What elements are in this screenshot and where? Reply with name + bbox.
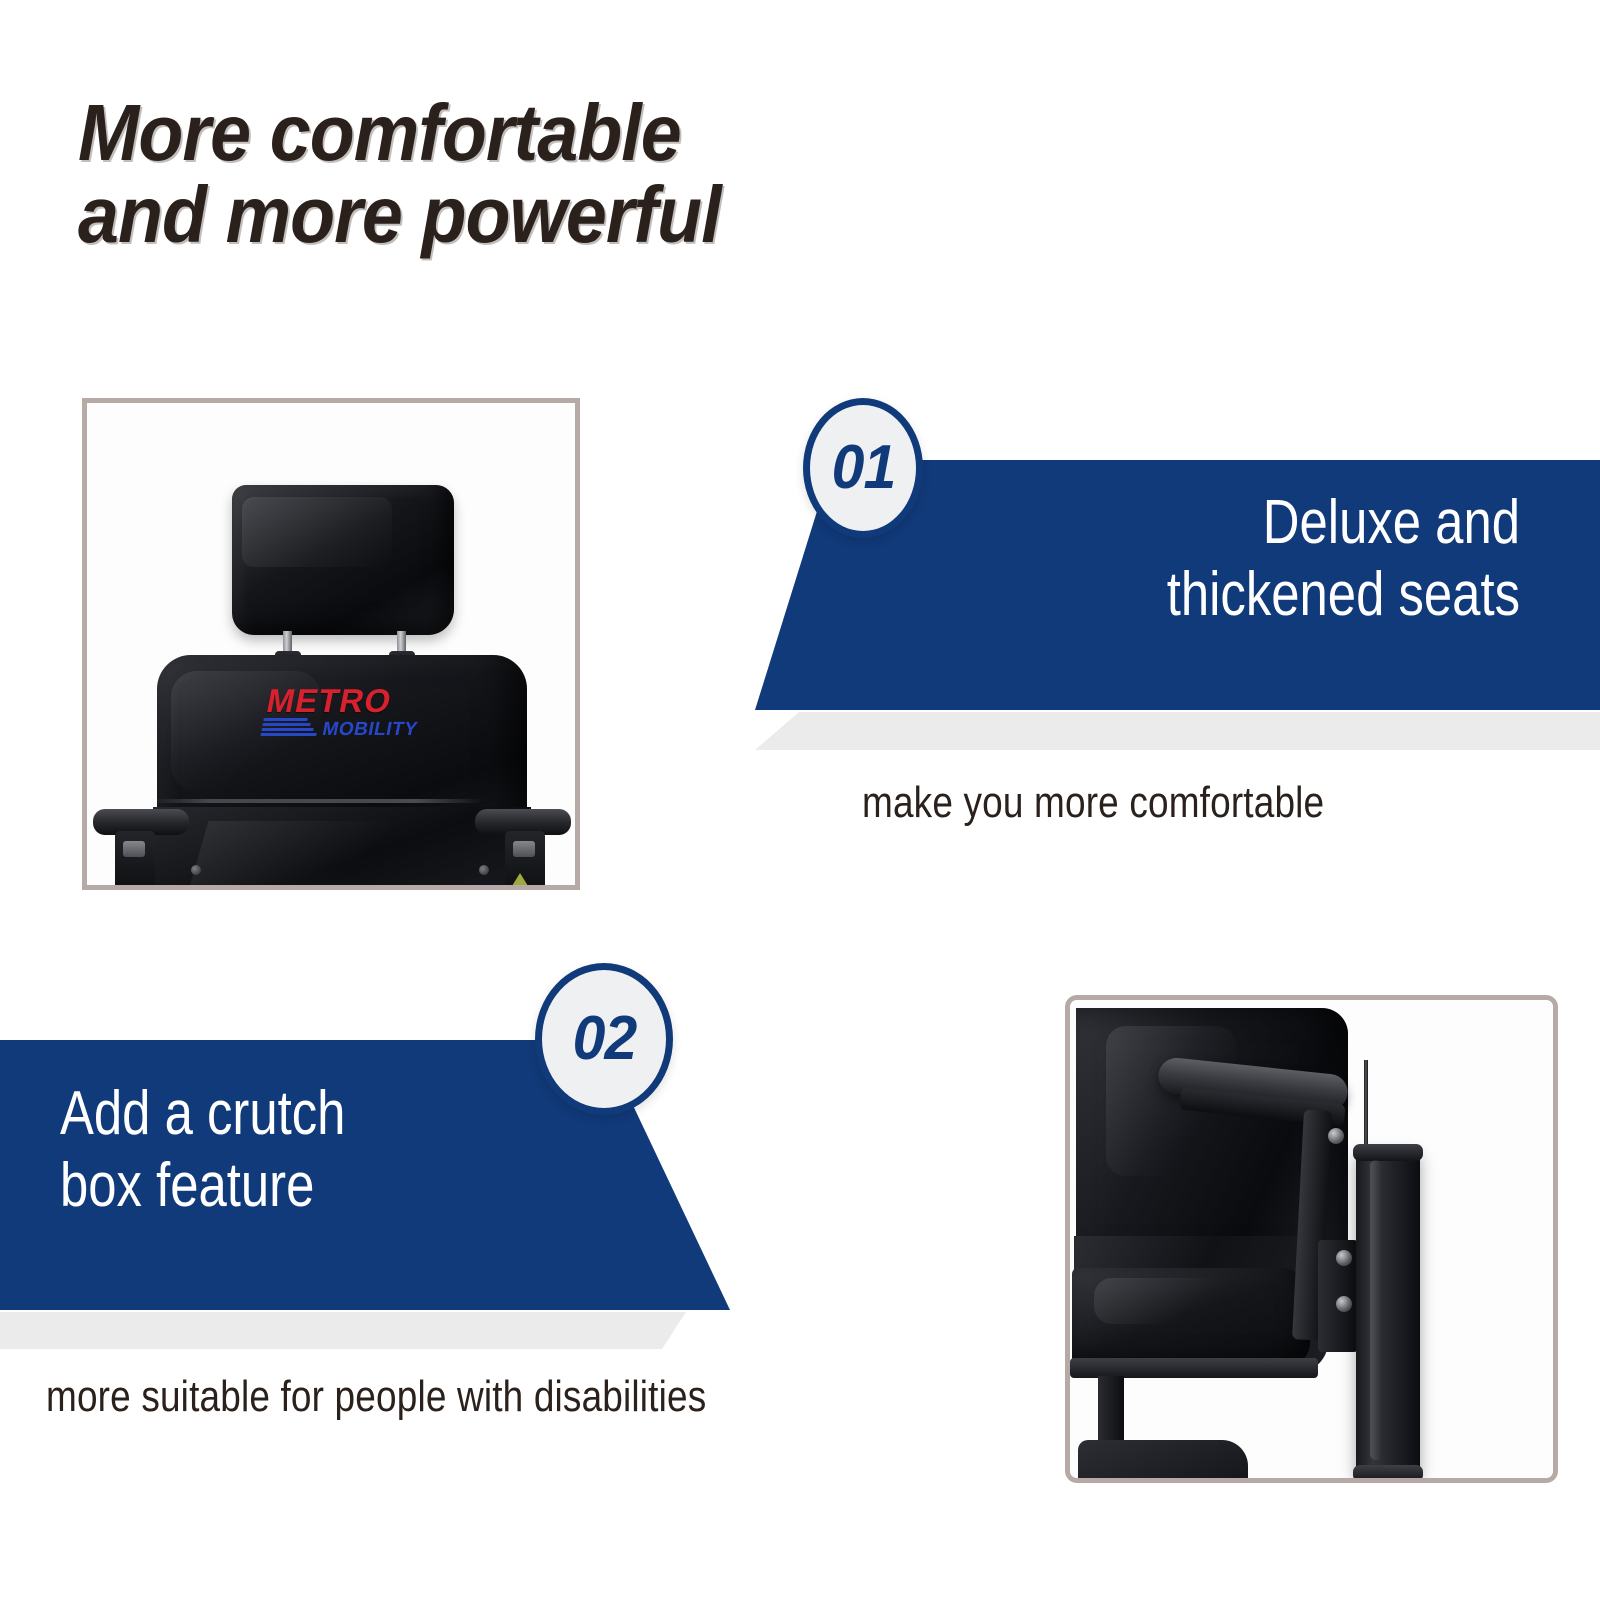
frame-screw-right	[479, 865, 489, 875]
infographic-stage: More comfortable and more powerful METRO…	[0, 0, 1600, 1600]
crutch-box-side-view-photo	[1065, 995, 1558, 1483]
feature-title-02: Add a crutch box feature	[60, 1078, 585, 1222]
feature-caption-01: make you more comfortable	[862, 778, 1324, 828]
feature-caption-02: more suitable for people with disabiliti…	[46, 1372, 706, 1422]
backrest-seam	[149, 799, 483, 803]
feature-title-01: Deluxe and thickened seats	[1012, 487, 1520, 631]
metro-mobility-logo: METRO MOBILITY	[260, 686, 460, 738]
logo-speed-lines	[260, 718, 320, 739]
photo-canvas	[1070, 1000, 1553, 1478]
feature-number-badge-01: 01	[803, 398, 923, 538]
seat-cushion-side	[1072, 1268, 1310, 1368]
bracket-bolt-upper	[1336, 1250, 1352, 1266]
seat-frame-rail	[1070, 1358, 1318, 1378]
feature-number-02: 02	[572, 1008, 636, 1070]
feature-number-01: 01	[831, 437, 895, 499]
wheelchair-seat-back-photo: METRO MOBILITY	[82, 398, 580, 890]
headrest-cushion	[232, 485, 454, 635]
crutch-box-highlight	[1370, 1160, 1382, 1460]
bracket-bolt-lower	[1336, 1296, 1352, 1312]
warning-triangle-icon	[512, 873, 528, 886]
feature-number-badge-02: 02	[535, 963, 673, 1115]
banner-shadow-01	[755, 712, 1600, 750]
crutch-box-tube	[1356, 1148, 1420, 1478]
page-headline: More comfortable and more powerful	[78, 92, 1145, 255]
armrest-mount-left	[115, 831, 155, 890]
hinge-bolt	[1328, 1128, 1344, 1144]
chair-base	[1078, 1440, 1248, 1483]
seat-post	[1098, 1376, 1124, 1446]
photo-canvas: METRO MOBILITY	[87, 403, 575, 885]
banner-shadow-02	[0, 1312, 730, 1349]
frame-screw-left	[191, 865, 201, 875]
brand-name-mobility: MOBILITY	[321, 720, 419, 739]
brand-name-metro: METRO	[264, 686, 460, 716]
